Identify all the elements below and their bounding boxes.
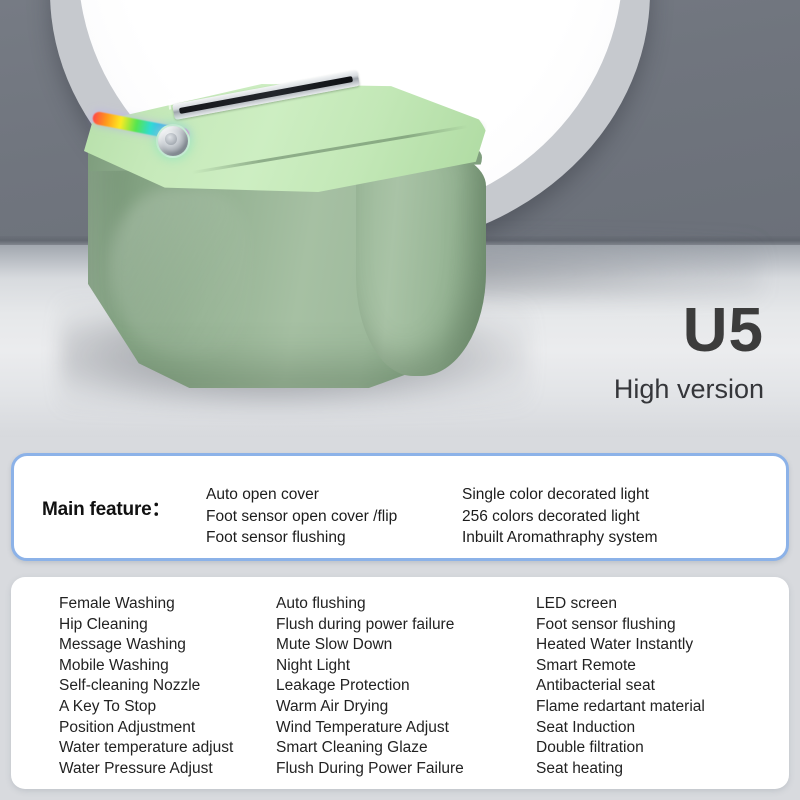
feature-list-column-3: LED screen Foot sensor flushing Heated W… bbox=[536, 594, 789, 779]
list-item: Flush during power failure bbox=[276, 615, 536, 636]
list-item: Mute Slow Down bbox=[276, 635, 536, 656]
feature-list-column-1: Female Washing Hip Cleaning Message Wash… bbox=[11, 594, 276, 779]
list-item: Smart Remote bbox=[536, 656, 789, 677]
product-spec-page: R U5 High version Main feature： Auto ope… bbox=[0, 0, 800, 800]
main-feature-item: Foot sensor flushing bbox=[206, 527, 397, 549]
list-item: LED screen bbox=[536, 594, 789, 615]
main-feature-item: Single color decorated light bbox=[462, 484, 658, 506]
model-name: U5 bbox=[683, 300, 764, 362]
main-feature-item: Foot sensor open cover /flip bbox=[206, 506, 397, 528]
knob-center-icon bbox=[165, 133, 177, 145]
model-version: High version bbox=[614, 374, 764, 404]
main-feature-label: Main feature： bbox=[42, 494, 170, 521]
list-item: Seat heating bbox=[536, 759, 789, 780]
list-item: Antibacterial seat bbox=[536, 676, 789, 697]
list-item: A Key To Stop bbox=[59, 697, 276, 718]
list-item: Seat Induction bbox=[536, 718, 789, 739]
list-item: Position Adjustment bbox=[59, 718, 276, 739]
list-item: Foot sensor flushing bbox=[536, 615, 789, 636]
list-item: Flame redartant material bbox=[536, 697, 789, 718]
list-item: Water Pressure Adjust bbox=[59, 759, 276, 780]
list-item: Message Washing bbox=[59, 635, 276, 656]
product-hero-image: R U5 High version bbox=[0, 0, 800, 437]
control-knob-sensor bbox=[156, 124, 190, 158]
list-item: Double filtration bbox=[536, 738, 789, 759]
list-item: Smart Cleaning Glaze bbox=[276, 738, 536, 759]
list-item: Mobile Washing bbox=[59, 656, 276, 677]
main-feature-item: Auto open cover bbox=[206, 484, 397, 506]
list-item: Wind Temperature Adjust bbox=[276, 718, 536, 739]
main-feature-item: Inbuilt Aromathraphy system bbox=[462, 527, 658, 549]
feature-list-columns: Female Washing Hip Cleaning Message Wash… bbox=[11, 594, 789, 779]
feature-list-panel: Female Washing Hip Cleaning Message Wash… bbox=[11, 577, 789, 789]
main-feature-column-1: Auto open cover Foot sensor open cover /… bbox=[206, 484, 397, 549]
list-item: Heated Water Instantly bbox=[536, 635, 789, 656]
feature-list-column-2: Auto flushing Flush during power failure… bbox=[276, 594, 536, 779]
main-feature-column-2: Single color decorated light 256 colors … bbox=[462, 484, 658, 549]
main-feature-item: 256 colors decorated light bbox=[462, 506, 658, 528]
smart-toilet-product: R bbox=[70, 78, 490, 400]
list-item: Hip Cleaning bbox=[59, 615, 276, 636]
list-item: Water temperature adjust bbox=[59, 738, 276, 759]
list-item: Auto flushing bbox=[276, 594, 536, 615]
list-item: Night Light bbox=[276, 656, 536, 677]
list-item: Flush During Power Failure bbox=[276, 759, 536, 780]
list-item: Warm Air Drying bbox=[276, 697, 536, 718]
list-item: Female Washing bbox=[59, 594, 276, 615]
main-feature-panel: Main feature： Auto open cover Foot senso… bbox=[11, 453, 789, 561]
list-item: Self-cleaning Nozzle bbox=[59, 676, 276, 697]
list-item: Leakage Protection bbox=[276, 676, 536, 697]
